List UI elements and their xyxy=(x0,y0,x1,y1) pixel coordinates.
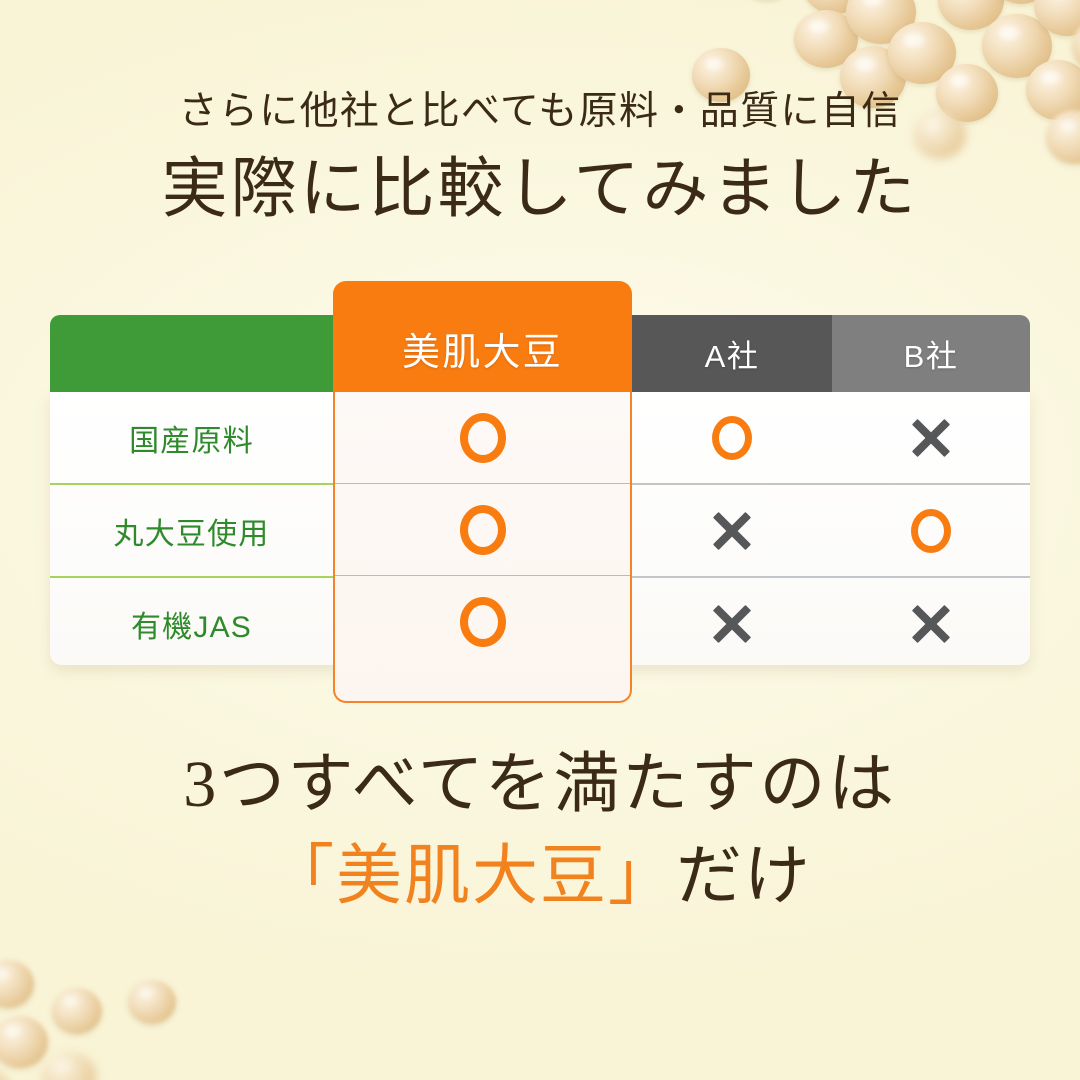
circle-mark-icon xyxy=(911,509,951,553)
table-row: 有機JAS xyxy=(50,576,333,669)
feature-label: 国産原料 xyxy=(129,416,254,460)
kicker-text: さらに他社と比べても原料・品質に自信 xyxy=(0,92,1080,131)
soybean-icon xyxy=(128,980,176,1024)
brand-name: 美肌大豆 xyxy=(336,840,608,913)
cell-bihada-row3 xyxy=(335,575,630,667)
cross-mark-icon xyxy=(910,417,952,459)
cell-company-b-row1 xyxy=(832,392,1030,483)
infographic-canvas: さらに他社と比べても原料・品質に自信 実際に比較してみました A社 B社 国産原… xyxy=(0,0,1080,1080)
comparison-table: A社 B社 国産原料 丸大豆使用 有機JAS xyxy=(50,315,1030,665)
table-header-company-b: B社 xyxy=(832,315,1030,392)
cross-mark-icon xyxy=(711,510,753,552)
circle-mark-icon xyxy=(712,416,752,460)
page-title: 実際に比較してみました xyxy=(0,157,1080,223)
cell-company-a-row3 xyxy=(632,576,832,669)
soybean-icon xyxy=(1072,18,1080,74)
cross-mark-icon xyxy=(711,603,753,645)
footer-suffix: だけ xyxy=(676,840,812,913)
cell-bihada-row1 xyxy=(335,392,630,483)
highlight-column-bihada-daizu: 美肌大豆 xyxy=(333,281,632,703)
footer-block: 3つすべてを満たすのは 「美肌大豆」だけ xyxy=(0,752,1080,910)
soybean-icon xyxy=(0,1016,48,1068)
bracket-close: 」 xyxy=(608,840,676,913)
footer-line-1: 3つすべてを満たすのは xyxy=(0,752,1080,818)
soybean-icon xyxy=(0,1068,10,1080)
table-header-feature xyxy=(50,315,333,392)
soybean-icon xyxy=(1034,0,1080,36)
table-row: 丸大豆使用 xyxy=(50,483,333,576)
soybean-cluster-bottom-left xyxy=(0,950,276,1080)
table-header-bihada-daizu: 美肌大豆 xyxy=(333,281,632,392)
circle-mark-icon xyxy=(460,413,506,463)
feature-label: 丸大豆使用 xyxy=(114,509,270,553)
soybean-icon xyxy=(990,0,1052,4)
soybean-icon xyxy=(802,0,868,14)
highlight-column-body xyxy=(333,392,632,703)
feature-label: 有機JAS xyxy=(131,602,252,646)
soybean-icon xyxy=(42,1052,96,1080)
circle-mark-icon xyxy=(460,505,506,555)
cell-company-b-row3 xyxy=(832,576,1030,669)
table-header-company-a: A社 xyxy=(632,315,832,392)
soybean-icon xyxy=(846,0,916,44)
cell-company-b-row2 xyxy=(832,483,1030,576)
company-a-column xyxy=(632,392,832,665)
soybean-icon xyxy=(794,10,858,68)
footer-line-2: 「美肌大豆」だけ xyxy=(0,844,1080,910)
heading-block: さらに他社と比べても原料・品質に自信 実際に比較してみました xyxy=(0,92,1080,223)
soybean-icon xyxy=(0,960,34,1008)
cross-mark-icon xyxy=(910,603,952,645)
bracket-open: 「 xyxy=(268,840,336,913)
cell-company-a-row1 xyxy=(632,392,832,483)
soybean-icon xyxy=(938,0,1004,30)
table-header-company-b-label: B社 xyxy=(904,331,959,376)
table-header-bihada-daizu-label: 美肌大豆 xyxy=(402,321,563,376)
soybean-icon xyxy=(888,22,956,84)
cell-company-a-row2 xyxy=(632,483,832,576)
cell-bihada-row2 xyxy=(335,483,630,575)
table-row: 国産原料 xyxy=(50,392,333,483)
soybean-icon xyxy=(52,988,102,1034)
circle-mark-icon xyxy=(460,597,506,647)
feature-label-column: 国産原料 丸大豆使用 有機JAS xyxy=(50,392,333,665)
company-b-column xyxy=(832,392,1030,665)
soybean-icon xyxy=(982,14,1052,78)
table-header-company-a-label: A社 xyxy=(705,331,760,376)
